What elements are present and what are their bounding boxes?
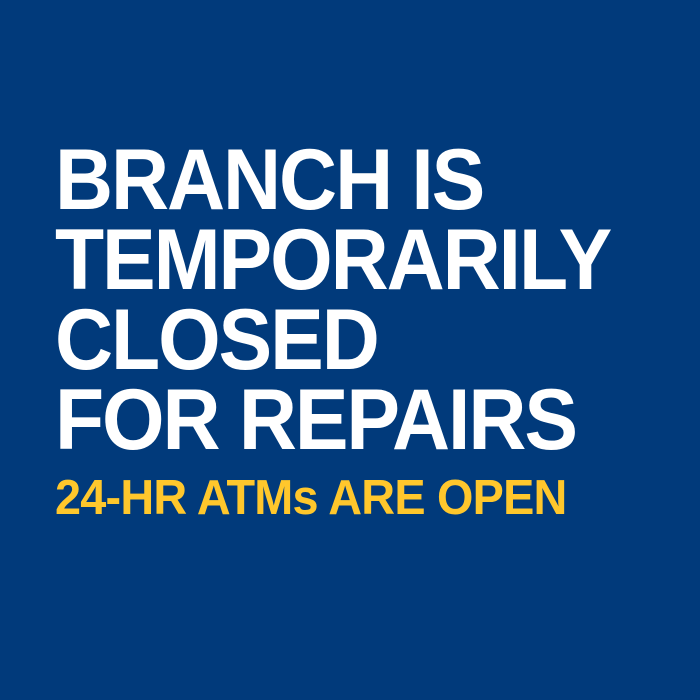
headline-line-2: TEMPORARILY — [55, 220, 653, 300]
headline: BRANCH IS TEMPORARILY CLOSED FOR REPAIRS — [55, 140, 695, 460]
subheadline-line-1: 24-HR ATMs ARE OPEN — [55, 472, 666, 524]
subheadline: 24-HR ATMs ARE OPEN — [55, 472, 695, 524]
branch-closure-sign: BRANCH IS TEMPORARILY CLOSED FOR REPAIRS… — [0, 0, 700, 700]
headline-line-1: BRANCH IS — [55, 140, 653, 220]
headline-line-4: FOR REPAIRS — [55, 380, 653, 460]
headline-line-3: CLOSED — [55, 300, 653, 380]
